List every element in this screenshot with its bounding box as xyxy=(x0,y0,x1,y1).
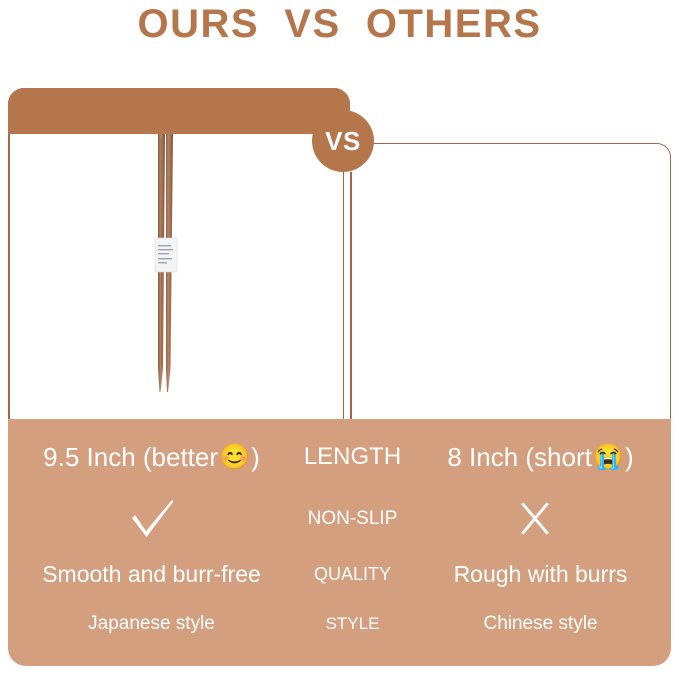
attribute-label-style: STYLE xyxy=(295,614,410,634)
right-product-panel xyxy=(343,143,671,421)
ours-quality-value: Smooth and burr-free xyxy=(8,561,295,588)
others-quality-value: Rough with burrs xyxy=(410,561,671,588)
attribute-label-non-slip: NON-SLIP xyxy=(295,508,410,530)
ours-style-value: Japanese style xyxy=(8,613,295,635)
others-style-value: Chinese style xyxy=(410,613,671,635)
page-title: OURS VS OTHERS xyxy=(0,2,679,47)
vs-badge: VS xyxy=(312,110,374,172)
table-row-style: Japanese style STYLE Chinese style xyxy=(8,607,671,641)
panel-divider xyxy=(350,172,352,419)
attribute-label-length: LENGTH xyxy=(295,443,410,471)
wooden-chopsticks-dark-image xyxy=(140,130,200,400)
table-row-quality: Smooth and burr-free QUALITY Rough with … xyxy=(8,555,671,593)
attribute-label-quality: QUALITY xyxy=(295,564,410,585)
left-panel-header-bar xyxy=(8,88,350,134)
comparison-card: VS 9.5 Inch (better 😊 ) LENGTH 8 Inch (s… xyxy=(8,88,671,666)
table-row-non-slip: NON-SLIP xyxy=(8,495,671,543)
left-product-panel xyxy=(8,88,350,421)
comparison-table: 9.5 Inch (better 😊 ) LENGTH 8 Inch (shor… xyxy=(8,419,671,666)
